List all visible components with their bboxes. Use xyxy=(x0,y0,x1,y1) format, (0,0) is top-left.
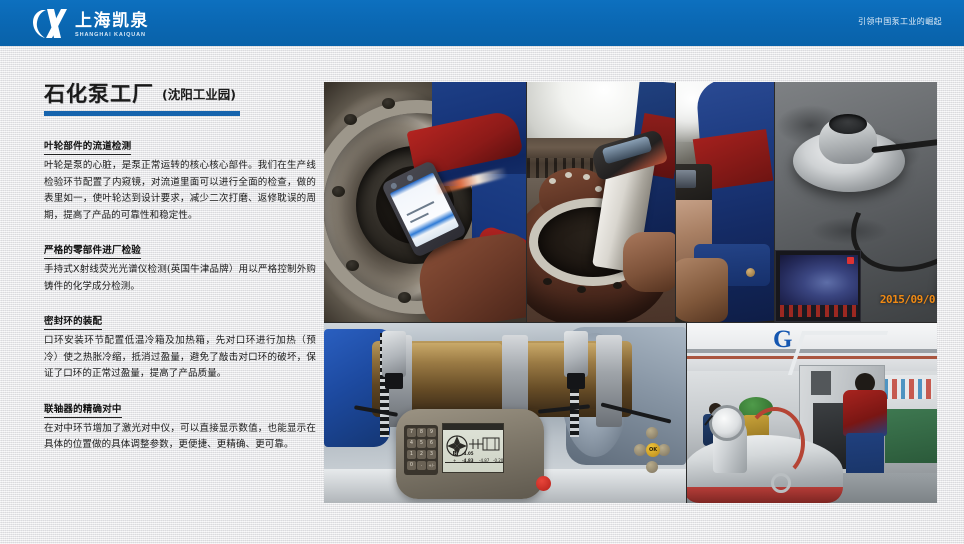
keypad-key: 9 xyxy=(427,428,436,437)
section-coupling-alignment: 联轴器的精确对中 在对中环节增加了激光对中仪，可以直接显示数值，也能显示在具体的… xyxy=(44,397,316,454)
keypad-key: 1 xyxy=(407,450,416,459)
photo-laser-shaft-alignment: 7 8 9 4 5 6 1 2 3 0 . +/- xyxy=(324,323,686,503)
laser-sensor-left xyxy=(382,331,406,377)
laser-sensor-right xyxy=(564,331,588,377)
section-body: 叶轮是泵的心脏，是泵正常运转的核心核心部件。我们在生产线检验环节配置了内窥镜，对… xyxy=(44,158,316,224)
kaiquan-logo-icon xyxy=(28,7,68,40)
section-body: 手持式X射线荧光光谱仪检测(英国牛津品牌）用以严格控制外购铸件的化学成分检测。 xyxy=(44,262,316,295)
keypad-key: 2 xyxy=(417,450,426,459)
page-title: 石化泵工厂 (沈阳工业园) xyxy=(44,82,316,106)
nav-up-icon xyxy=(646,427,658,439)
pressure-gauge xyxy=(709,405,745,441)
section-body: 口环安装环节配置低温冷箱及加热箱，先对口环进行加热（预冷）使之热胀冷缩，抵消过盈… xyxy=(44,333,316,383)
alignment-tool-navpad: OK xyxy=(634,427,670,473)
keypad-key: 7 xyxy=(407,428,416,437)
page-title-sub: (沈阳工业园) xyxy=(162,85,236,106)
ok-button: OK xyxy=(646,443,660,457)
logo-text-chinese: 上海凯泉 xyxy=(75,12,149,31)
keypad-key: 4 xyxy=(407,439,416,448)
keypad-key: 3 xyxy=(427,450,436,459)
keypad-key: 0 xyxy=(407,461,416,470)
keypad-key: 6 xyxy=(427,439,436,448)
photo-impeller-borescope: 2015/09/0 xyxy=(775,82,937,322)
section-heading: 叶轮部件的流道检测 xyxy=(44,139,131,155)
section-parts-inspection: 严格的零部件进厂检验 手持式X射线荧光光谱仪检测(英国牛津品牌）用以严格控制外购… xyxy=(44,238,316,295)
keypad-key: 5 xyxy=(417,439,426,448)
section-heading: 密封环的装配 xyxy=(44,314,102,330)
page-title-main: 石化泵工厂 xyxy=(44,82,154,106)
nav-left-icon xyxy=(634,444,646,456)
photo-gallery: 2015/09/0 xyxy=(324,82,937,503)
workshop-sign-letter: G xyxy=(773,327,792,353)
photo-worker-instrument xyxy=(676,82,774,322)
logo-text-english: SHANGHAI KAIQUAN xyxy=(75,31,149,39)
photo-row-top: 2015/09/0 xyxy=(324,82,937,322)
content-left-column: 石化泵工厂 (沈阳工业园) 叶轮部件的流道检测 叶轮是泵的心脏，是泵正常运转的核… xyxy=(44,82,316,468)
nav-down-icon xyxy=(646,461,658,473)
photo-borescope-group: 2015/09/0 xyxy=(676,82,937,322)
keypad-key: +/- xyxy=(427,461,436,470)
keypad-key: 8 xyxy=(417,428,426,437)
title-underline-rule xyxy=(44,111,240,116)
section-heading: 联轴器的精确对中 xyxy=(44,402,122,418)
brand-logo[interactable]: 上海凯泉 SHANGHAI KAIQUAN xyxy=(28,7,149,40)
photo-impeller-flange-handheld xyxy=(324,82,526,322)
section-heading: 严格的零部件进厂检验 xyxy=(44,243,141,259)
page-header: 上海凯泉 SHANGHAI KAIQUAN 引领中国泵工业的崛起 xyxy=(0,0,964,46)
alignment-readout: -4.05 xyxy=(462,451,474,456)
alignment-tool-display: H -4.05 + -4.83 -4.87 -0.20 xyxy=(442,423,504,473)
keypad-key: . xyxy=(417,461,426,470)
header-slogan: 引领中国泵工业的崛起 xyxy=(858,16,942,28)
borescope-date-stamp: 2015/09/0 xyxy=(880,293,935,306)
photo-xrf-analyzer-casing xyxy=(527,82,675,322)
borescope-screen-inset xyxy=(775,250,861,322)
photo-row-bottom: 7 8 9 4 5 6 1 2 3 0 . +/- xyxy=(324,323,937,503)
power-button-icon xyxy=(536,476,551,491)
section-seal-ring-assembly: 密封环的装配 口环安装环节配置低温冷箱及加热箱，先对口环进行加热（预冷）使之热胀… xyxy=(44,309,316,383)
photo-workshop-heating-cabinet: G xyxy=(687,323,937,503)
section-impeller-inspection: 叶轮部件的流道检测 叶轮是泵的心脏，是泵正常运转的核心核心部件。我们在生产线检验… xyxy=(44,134,316,224)
alignment-tool-keypad: 7 8 9 4 5 6 1 2 3 0 . +/- xyxy=(404,425,438,475)
section-body: 在对中环节增加了激光对中仪，可以直接显示数值，也能显示在具体的位置做的具体调整参… xyxy=(44,421,316,454)
